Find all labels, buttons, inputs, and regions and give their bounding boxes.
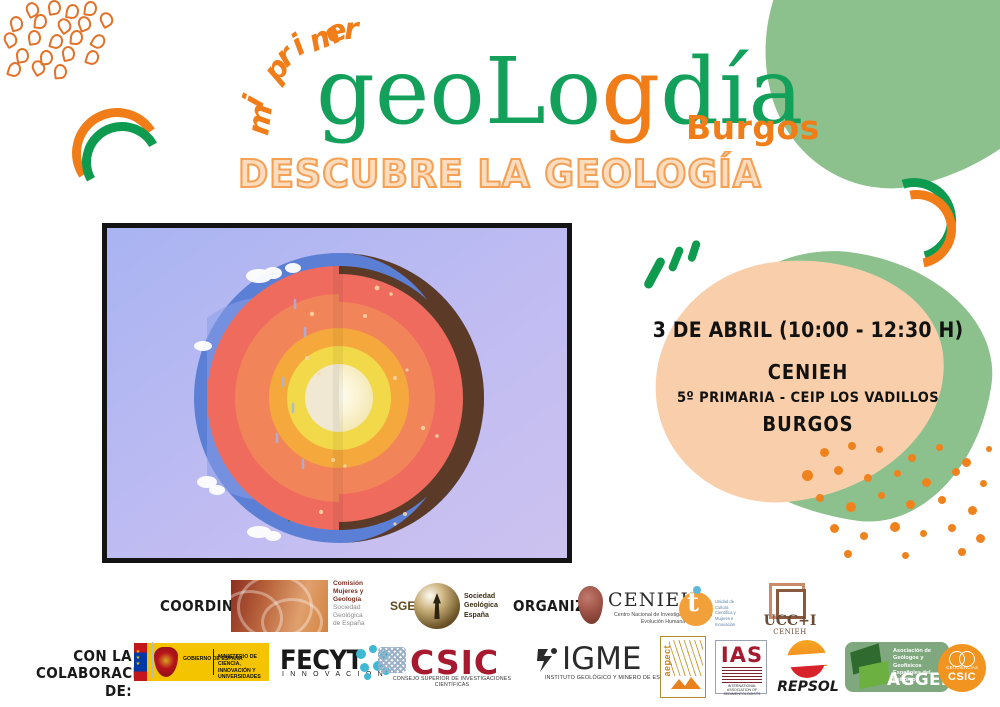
colaboracion-label-line1: CON LA: [36, 648, 132, 665]
dot-icon: [920, 530, 927, 537]
csic-igme-divider: [152, 642, 153, 678]
earth-svg: [107, 228, 567, 558]
logo-gobierno-de-espana: GOBIERNO DE ESPAÑA MINISTERIO DE CIENCIA…: [134, 643, 269, 681]
dot-icon: [936, 444, 943, 451]
dot-icon: [952, 468, 960, 476]
sge-subtitle: Sociedad Geológica España: [464, 592, 498, 620]
earth-cutaway-illustration: [102, 223, 572, 563]
dot-icon: [986, 446, 992, 452]
poster-title-area: mi primer geoLogdía Burgos DESCUBRE LA G…: [0, 0, 1000, 210]
poster-root: mi primer geoLogdía Burgos DESCUBRE LA G…: [0, 0, 1000, 707]
repsol-wordmark: REPSOL: [775, 679, 841, 695]
cmg-line-2: Mujeres y: [333, 588, 387, 596]
green-sparkle-icon: [646, 238, 716, 298]
logo-comision-mujeres-geologia-text: Comisión Mujeres y Geología Sociedad Geo…: [333, 580, 387, 632]
ias-strata-icon: [722, 667, 762, 683]
logo-geociencias-csic: GEOCIENCIAS CSIC: [938, 644, 986, 692]
dot-icon: [848, 442, 856, 450]
dot-icon: [830, 524, 839, 533]
igme-mark-icon: [534, 646, 560, 674]
event-date: 3 DE ABRIL (10:00 - 12:30 H): [648, 318, 968, 342]
dot-icon: [958, 548, 966, 556]
dot-icon: [844, 550, 852, 558]
logo-ias: IAS INTERNATIONAL ASSOCIATION OF SEDIMEN…: [715, 640, 767, 694]
dot-icon: [860, 532, 868, 540]
fecyt-dot-icon: [364, 673, 371, 680]
title-part-geolo: geoLo: [316, 38, 601, 145]
dot-icon: [890, 522, 900, 532]
cmg-line-1: Comisión: [333, 580, 387, 588]
cenieh-stone-icon: [578, 586, 603, 624]
logo-aggep: Asociación de Geólogos y Geofísicos Espa…: [845, 642, 949, 692]
ministerio-text: MINISTERIO DE CIENCIA, INNOVACIÓN Y UNIV…: [218, 654, 269, 681]
logo-fecyt: FECYT I N N O V A C I Ó N: [280, 645, 386, 681]
ucc-subtitle: Unidad de Cultura Científica y Mujeres e…: [715, 599, 745, 627]
logo-ucc-i-cenieh: UCC+I CENIEH: [757, 583, 823, 631]
ias-subtitle: INTERNATIONAL ASSOCIATION OF SEDIMENTOLO…: [716, 684, 768, 696]
geocsic-subtitle: GEOCIENCIAS: [938, 665, 986, 670]
gob-flag-stripe-icon: [134, 643, 147, 681]
event-city: BURGOS: [648, 412, 968, 436]
sge-line-1: Sociedad: [464, 592, 498, 601]
dot-icon: [894, 470, 901, 477]
ucc-circle-icon: [679, 592, 713, 626]
dot-icon: [802, 470, 813, 481]
title-part-g-orange: g: [601, 38, 660, 145]
cmg-line-6: de España: [333, 620, 387, 628]
gob-coat-of-arms-icon: [154, 647, 178, 677]
cmg-line-4: Sociedad: [333, 604, 387, 612]
dot-icon: [906, 500, 915, 509]
dot-icon: [902, 552, 909, 559]
ias-wordmark: IAS: [716, 643, 768, 667]
logo-sociedad-geologica-espana: SGE Sociedad Geológica España: [390, 583, 500, 629]
colaboracion-label-line2: COLABORACIÓN DE:: [36, 665, 132, 700]
csic-lattice-icon: [378, 647, 406, 673]
dot-icon: [820, 448, 829, 457]
event-info-block: 3 DE ABRIL (10:00 - 12:30 H) CENIEH 5º P…: [648, 318, 968, 436]
dot-icon: [962, 458, 971, 467]
cmg-line-3: Geología: [333, 596, 387, 604]
geocsic-rings-icon: [949, 651, 975, 665]
csic-subtitle: CONSEJO SUPERIOR DE INVESTIGACIONES CIEN…: [378, 676, 526, 688]
sge-badge-icon: [414, 583, 460, 629]
dot-icon: [938, 496, 946, 504]
dot-icon: [864, 474, 872, 482]
dot-icon: [816, 494, 824, 502]
poster-subtitle: DESCUBRE LA GEOLOGÍA: [0, 152, 1000, 196]
dot-icon: [948, 524, 956, 532]
aepect-fan-icon: [669, 640, 703, 676]
logo-unidad-cultura-cientifica: Unidad de Cultura Científica y Mujeres e…: [679, 586, 721, 628]
dot-icon: [908, 454, 916, 462]
aepect-hill-icon: [671, 675, 701, 689]
ucci-subtitle: CENIEH: [757, 628, 823, 636]
logo-aepect: aepect: [660, 636, 706, 698]
dot-icon: [968, 506, 977, 515]
geocsic-wordmark: CSIC: [938, 671, 986, 683]
logo-repsol: REPSOL: [775, 640, 841, 692]
dot-icon: [878, 492, 885, 499]
igme-wordmark: IGME: [562, 641, 642, 677]
dot-icon: [846, 502, 856, 512]
dot-icon: [876, 446, 883, 453]
earth-illustration-canvas: [107, 228, 567, 558]
ucci-wordmark: UCC+I: [757, 613, 823, 629]
colaboracion-label: CON LA COLABORACIÓN DE:: [36, 648, 132, 700]
sge-acronym: SGE: [390, 599, 415, 613]
fecyt-dot-icon: [356, 649, 366, 659]
cmg-line-5: Geológica: [333, 612, 387, 620]
sge-line-3: España: [464, 611, 498, 620]
event-venue: CENIEH: [648, 360, 968, 384]
fecyt-dot-icon: [360, 663, 369, 672]
sge-line-2: Geológica: [464, 601, 498, 610]
repsol-band-icon: [777, 652, 840, 668]
event-audience: 5º PRIMARIA - CEIP LOS VADILLOS: [648, 390, 968, 406]
fecyt-dot-icon: [369, 645, 377, 653]
gob-divider: [213, 649, 214, 675]
orange-dot-confetti: [790, 440, 1000, 570]
dot-icon: [922, 478, 931, 487]
logo-comision-mujeres-geologia: [231, 580, 328, 632]
dot-icon: [976, 534, 985, 543]
aepect-wordmark: aepect: [662, 645, 672, 677]
aggep-shape-light-icon: [859, 661, 889, 690]
dot-icon: [834, 466, 843, 475]
logo-csic: CSIC CONSEJO SUPERIOR DE INVESTIGACIONES…: [378, 645, 526, 681]
dot-icon: [980, 480, 987, 487]
ucc-dot-icon: [693, 586, 701, 594]
title-place-burgos: Burgos: [686, 108, 820, 147]
